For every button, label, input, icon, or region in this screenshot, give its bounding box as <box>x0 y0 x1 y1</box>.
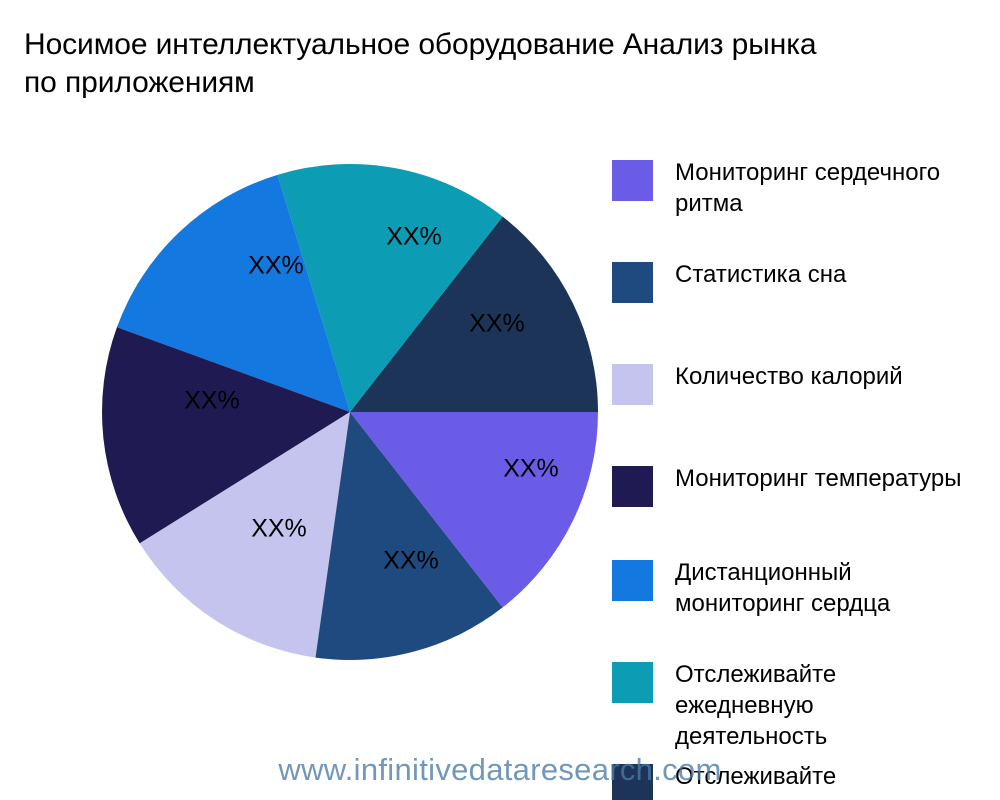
legend-item-sleep-stats[interactable]: Статистика сна <box>612 262 846 303</box>
chart-legend: Мониторинг сердечного ритмаСтатистика сн… <box>612 152 1000 800</box>
legend-item-calorie-count[interactable]: Количество калорий <box>612 364 903 405</box>
legend-item-remote-heart-monitoring[interactable]: Дистанционный мониторинг сердца <box>612 560 890 619</box>
legend-item-label: Отслеживайте <box>675 761 836 792</box>
legend-item-heart-rate-monitoring[interactable]: Мониторинг сердечного ритма <box>612 160 940 219</box>
legend-item-temperature-monitoring[interactable]: Мониторинг температуры <box>612 466 961 507</box>
legend-color-swatch <box>612 764 653 800</box>
legend-color-swatch <box>612 262 653 303</box>
legend-item-label: Отслеживайте ежедневную деятельность <box>675 659 836 752</box>
pie-value-label: XX% <box>503 455 559 483</box>
pie-slices-group <box>102 164 598 660</box>
legend-item-label: Мониторинг сердечного ритма <box>675 157 940 219</box>
pie-chart-figure: Носимое интеллектуальное оборудование Ан… <box>0 0 1000 800</box>
legend-color-swatch <box>612 466 653 507</box>
legend-color-swatch <box>612 160 653 201</box>
pie-value-label: XX% <box>184 387 240 415</box>
legend-item-daily-activity[interactable]: Отслеживайте ежедневную деятельность <box>612 662 836 752</box>
legend-color-swatch <box>612 364 653 405</box>
pie-value-label: XX% <box>251 515 307 543</box>
legend-item-label: Количество калорий <box>675 361 903 392</box>
pie-value-label: XX% <box>469 310 525 338</box>
pie-value-label: XX% <box>386 223 442 251</box>
pie-svg: XX%XX%XX%XX%XX%XX%XX% <box>0 0 620 800</box>
legend-color-swatch <box>612 662 653 703</box>
pie-plot-area: XX%XX%XX%XX%XX%XX%XX% <box>0 0 620 800</box>
legend-item-tracking[interactable]: Отслеживайте <box>612 764 836 800</box>
pie-value-label: XX% <box>383 547 439 575</box>
legend-item-label: Мониторинг температуры <box>675 463 961 494</box>
legend-color-swatch <box>612 560 653 601</box>
legend-item-label: Дистанционный мониторинг сердца <box>675 557 890 619</box>
pie-value-label: XX% <box>248 252 304 280</box>
legend-item-label: Статистика сна <box>675 259 846 290</box>
